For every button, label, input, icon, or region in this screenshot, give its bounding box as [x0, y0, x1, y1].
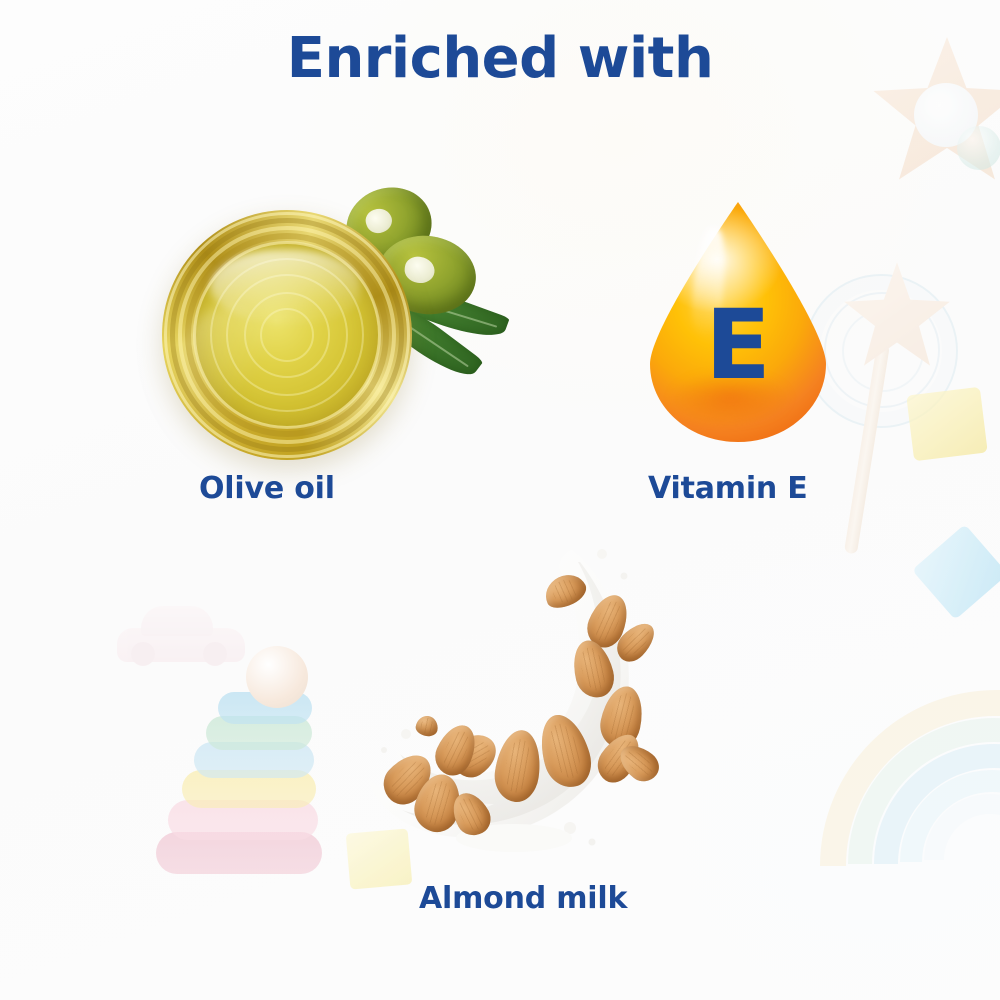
almond-8 — [590, 727, 647, 789]
wand-ripple-outer — [804, 274, 958, 428]
bowl-rim-ring-5 — [193, 241, 381, 429]
pale-yellow-block-icon — [346, 828, 413, 889]
ring-pink-light — [168, 800, 318, 840]
rainbow-arc-white — [924, 794, 1000, 860]
ingredient-label-almond-milk: Almond milk — [419, 881, 627, 916]
wand-star-head — [842, 260, 952, 370]
rainbow-arc-mint — [848, 718, 1000, 864]
ring-blue — [218, 692, 312, 724]
ingredient-label-vitamin-e: Vitamin E — [648, 471, 808, 506]
almond-11 — [429, 719, 483, 781]
rainbow-arc-cream — [820, 690, 1000, 866]
almond-14 — [446, 787, 497, 842]
car-wheel-front — [131, 642, 155, 666]
droplet-highlight — [688, 227, 729, 338]
olive-upper-pimento — [363, 205, 395, 236]
blue-block-icon — [912, 524, 1000, 620]
ring-pink-bottom — [156, 832, 322, 874]
ingredient-label-olive-oil: Olive oil — [199, 471, 335, 506]
bowl-rim-ring-1 — [164, 212, 410, 458]
yellow-block-icon — [906, 387, 987, 462]
bowl-rim-ring-3 — [178, 226, 396, 444]
almond-15 — [414, 714, 439, 738]
milk-splash — [366, 536, 682, 876]
ring-mint — [206, 716, 312, 750]
page-title: Enriched with — [0, 26, 1000, 91]
oil-gloss-highlight — [210, 250, 360, 324]
olive-lower — [373, 230, 481, 321]
car-body — [117, 628, 245, 662]
almond-12 — [375, 746, 441, 813]
bowl-rim-ring-4 — [185, 233, 389, 437]
pastel-rainbow-stacker-icon — [820, 690, 1000, 1000]
almond-9 — [613, 738, 665, 787]
olive-oil-bowl-icon — [150, 180, 530, 470]
almond-5 — [596, 683, 648, 752]
oil-swirl-1 — [210, 258, 364, 412]
pink-toy-car-icon — [117, 604, 245, 666]
almond-4 — [611, 616, 662, 667]
almond-10 — [444, 726, 504, 784]
almond-1 — [540, 568, 591, 613]
oil-gloss-secondary — [180, 306, 276, 426]
oil-swirl-4 — [260, 308, 314, 362]
olive-upper — [336, 177, 441, 276]
olive-leaf-upper — [394, 280, 510, 346]
car-wheel-rear — [203, 642, 227, 666]
droplet-letter-e: E — [650, 202, 826, 442]
almond-7 — [491, 727, 545, 804]
olive-lower-pimento — [403, 255, 436, 285]
droplet-shadow — [670, 372, 790, 424]
car-roof — [141, 606, 213, 636]
bowl-rim-ring-2 — [170, 218, 404, 452]
almond-3 — [568, 636, 619, 701]
oil-swirl-2 — [226, 274, 348, 396]
vitamin-e-droplet-icon: E — [650, 202, 840, 452]
cream-ball-top — [246, 646, 308, 708]
oil-swirl-3 — [244, 292, 330, 378]
oil-surface — [196, 244, 378, 426]
wand-ripple-mid — [824, 292, 940, 408]
almond-6 — [533, 709, 598, 793]
droplet: E — [650, 202, 826, 442]
almond-milk-splash-icon — [366, 536, 682, 876]
wooden-star-wand-icon — [790, 258, 1000, 558]
droplet-body — [650, 202, 826, 442]
ring-lightblue — [194, 742, 314, 778]
poster-canvas: Enriched with Olive oil E Vitamin E — [0, 0, 1000, 1000]
ring-yellow — [182, 770, 316, 808]
mint-bead-icon — [957, 126, 1000, 170]
rainbow-arc-sky — [874, 744, 1000, 864]
olive-leaf-lower — [368, 289, 483, 387]
oil-bowl — [162, 210, 412, 460]
pastel-ring-stacker-icon — [150, 646, 340, 878]
almond-13 — [410, 770, 467, 837]
wand-stick — [844, 343, 890, 554]
almond-2 — [581, 589, 635, 653]
rainbow-arc-ice — [900, 770, 1000, 862]
wand-ripple-inner — [842, 310, 924, 392]
star-hole — [914, 83, 978, 147]
